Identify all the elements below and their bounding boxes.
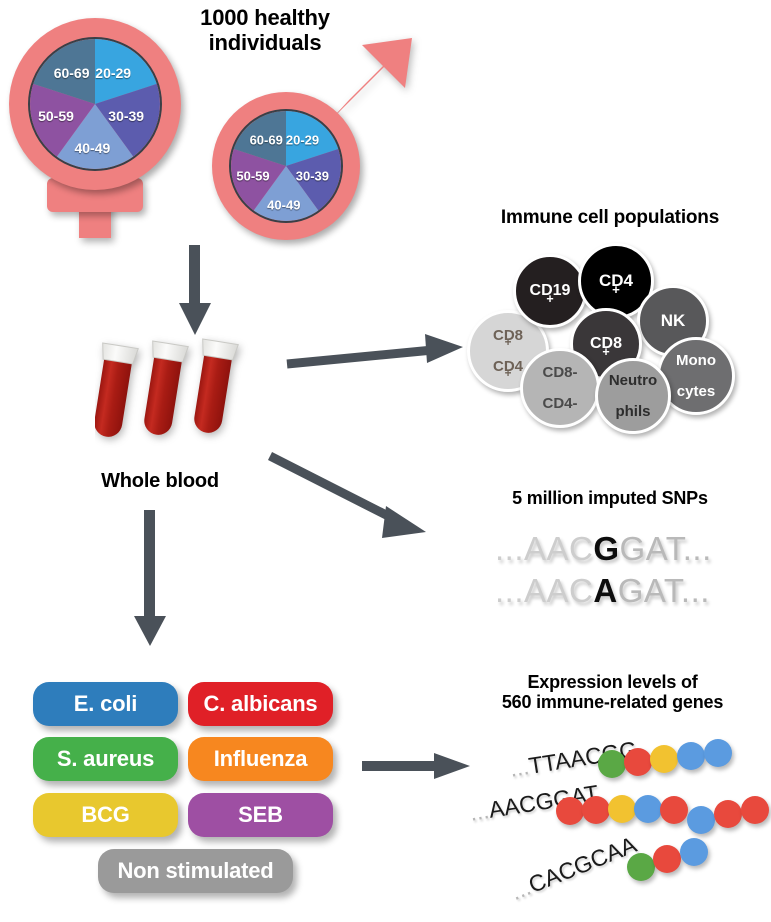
cell-neutrophils-line2: phils [609, 404, 657, 419]
snp-row-2-suffix: GAT... [618, 572, 710, 609]
stimulus-label-c-albicans: C. albicans [204, 691, 318, 717]
snp-row-1-suffix: GAT... [620, 530, 712, 567]
snps-section-title: 5 million imputed SNPs [455, 488, 765, 508]
blood-tubes-svg [95, 335, 285, 475]
cell-monocytes-line1: Mono [676, 353, 716, 368]
expression-bead [714, 800, 742, 828]
cell-cd8neg-cd4neg-line1: CD8- [542, 365, 577, 380]
snp-row-2-variant: A [593, 572, 617, 609]
female-symbol: 20-29 30-39 40-49 50-59 60-69 [0, 0, 200, 250]
cell-neutrophils: Neutro phils [595, 358, 671, 434]
expression-bead [598, 750, 626, 778]
snp-row-1-prefix: ...AAC [495, 530, 593, 567]
stimulus-box-bcg[interactable]: BCG [33, 793, 178, 837]
arrow-stimuli-to-expression [362, 748, 477, 788]
expression-bead [741, 796, 769, 824]
stimulus-box-seb[interactable]: SEB [188, 793, 333, 837]
expression-bead [680, 838, 708, 866]
stimulus-label-influenza: Influenza [214, 746, 308, 772]
male-age-pie: 20-29 30-39 40-49 50-59 60-69 [229, 109, 343, 223]
stimulus-box-influenza[interactable]: Influenza [188, 737, 333, 781]
expression-strand-3: ...CACGCAA [512, 840, 762, 910]
snp-sequence-row-2: ...AACAGAT... [495, 572, 710, 610]
blood-tubes [95, 335, 285, 475]
arrow-cohort-to-blood [175, 245, 215, 340]
male-age-pie-svg [231, 111, 341, 221]
stimulus-label-non-stimulated: Non stimulated [117, 858, 273, 884]
stimulus-box-non-stimulated[interactable]: Non stimulated [98, 849, 293, 893]
expression-bead [582, 796, 610, 824]
expression-strand-3-sequence: ...CACGCAA [507, 831, 640, 906]
cell-neutrophils-line1: Neutro [609, 373, 657, 388]
expression-bead [627, 853, 655, 881]
whole-blood-label: Whole blood [55, 470, 265, 492]
expression-bead [660, 796, 688, 824]
expression-title-line1: Expression levels of [460, 672, 765, 692]
immune-cell-cluster: CD8+ CD4+ CD19+ CD4+ NK CD8+ [465, 240, 755, 425]
cell-cd19pos: CD19+ [513, 254, 587, 328]
snp-row-2-prefix: ...AAC [495, 572, 593, 609]
figure-canvas: 1000 healthy individuals 20-29 30-39 40-… [0, 0, 771, 922]
stimulus-label-e-coli: E. coli [74, 691, 137, 717]
cell-monocytes-line2: cytes [676, 384, 716, 399]
cell-cd8neg-cd4neg: CD8- CD4- [520, 348, 600, 428]
stimulus-label-bcg: BCG [81, 802, 129, 828]
stimulus-label-s-aureus: S. aureus [57, 746, 154, 772]
expression-bead [608, 795, 636, 823]
expression-title-line2: 560 immune-related genes [460, 692, 765, 712]
expression-section-title: Expression levels of 560 immune-related … [460, 672, 765, 712]
immune-section-title: Immune cell populations [455, 207, 765, 228]
expression-bead [704, 739, 732, 767]
stimulus-box-e-coli[interactable]: E. coli [33, 682, 178, 726]
expression-bead [650, 745, 678, 773]
snp-sequence-row-1: ...AACGGAT... [495, 530, 712, 568]
stimulus-box-s-aureus[interactable]: S. aureus [33, 737, 178, 781]
female-age-pie: 20-29 30-39 40-49 50-59 60-69 [28, 37, 162, 171]
expression-bead [687, 806, 715, 834]
expression-bead [624, 748, 652, 776]
expression-strand-3-bases: CACGCAA [525, 831, 640, 898]
arrow-blood-to-stimuli [130, 510, 170, 650]
female-age-pie-svg [30, 39, 160, 169]
stimulus-label-seb: SEB [238, 802, 283, 828]
stimulus-box-c-albicans[interactable]: C. albicans [188, 682, 333, 726]
arrow-blood-to-snps [268, 450, 458, 550]
expression-bead [653, 845, 681, 873]
expression-bead [677, 742, 705, 770]
cell-cd8neg-cd4neg-line2: CD4- [542, 396, 577, 411]
snp-row-1-variant: G [593, 530, 619, 567]
expression-bead [634, 795, 662, 823]
arrow-blood-to-immune [285, 330, 470, 380]
expression-bead [556, 797, 584, 825]
male-symbol: 20-29 30-39 40-49 50-59 60-69 [200, 30, 420, 250]
cell-nk-label: NK [661, 312, 686, 329]
